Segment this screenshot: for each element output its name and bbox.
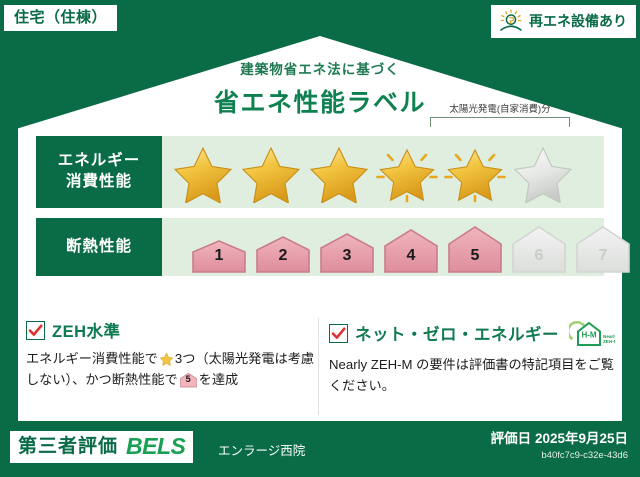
solar-bracket — [430, 117, 570, 127]
energy-label-line1: エネルギー — [58, 151, 141, 172]
svg-text:H-M: H-M — [581, 331, 596, 340]
insulation-performance-label: 断熱性能 — [36, 218, 162, 276]
energy-performance-row: エネルギー 消費性能 太陽光発電(自家消費)分 — [36, 136, 604, 208]
insulation-level-6: 6 — [508, 225, 570, 273]
building-type-label: 住宅（住棟） — [14, 9, 107, 26]
star-rating — [162, 141, 604, 203]
insulation-levels-area: 1 2 3 4 — [162, 218, 634, 276]
checkmark-icon — [329, 324, 348, 343]
renewable-energy-badge: 再エネ設備あり — [491, 5, 636, 38]
title-subtitle: 建築物省エネ法に基づく — [0, 58, 640, 78]
insulation-level-scale: 1 2 3 4 — [162, 218, 634, 276]
checkmark-icon — [26, 321, 45, 340]
renewable-badge-label: 再エネ設備あり — [529, 14, 627, 28]
insulation-level-5: 5 — [444, 225, 506, 273]
criteria-divider — [318, 318, 319, 415]
insulation-level-2: 2 — [252, 235, 314, 273]
criterion-net-zero: ネット・ゼロ・エネルギー H-M Nearly ZEH-M Nearly ZEH… — [329, 318, 618, 397]
evaluation-info: 評価日 2025年9月25日 b40fc7c9-c32e-43d6 — [491, 431, 628, 461]
bels-logo-box: 第三者評価 BELS — [10, 431, 193, 463]
builder-name: エンラージ西院 — [218, 440, 305, 459]
criterion-net-zero-body: Nearly ZEH-M の要件は評価書の特記項目をご覧ください。 — [329, 354, 618, 397]
house-level-icon-value: 5 — [180, 375, 197, 384]
star-6-empty — [510, 141, 576, 203]
criteria-section: ZEH水準 エネルギー消費性能で3つ（太陽光発電は考慮しない）、かつ断熱性能で5… — [26, 318, 618, 397]
sun-renewable-icon — [498, 9, 524, 33]
criterion-net-zero-title: ネット・ゼロ・エネルギー — [355, 321, 559, 345]
evaluation-date-line: 評価日 2025年9月25日 — [491, 431, 628, 447]
criterion-zeh-title: ZEH水準 — [52, 318, 121, 342]
solar-annotation-label: 太陽光発電(自家消費)分 — [430, 105, 570, 115]
footer-bar: 第三者評価 BELS エンラージ西院 評価日 2025年9月25日 b40fc7… — [0, 421, 640, 477]
solar-generation-annotation: 太陽光発電(自家消費)分 — [430, 105, 570, 127]
insulation-label-text: 断熱性能 — [66, 237, 132, 258]
star-icon — [159, 351, 174, 366]
criterion-zeh-text-c: を達成 — [199, 372, 239, 387]
criterion-zeh: ZEH水準 エネルギー消費性能で3つ（太陽光発電は考慮しない）、かつ断熱性能で5… — [26, 318, 315, 397]
evaluation-id: b40fc7c9-c32e-43d6 — [491, 450, 628, 461]
bels-jp-label: 第三者評価 — [18, 437, 118, 456]
svg-text:ZEH-M: ZEH-M — [603, 339, 615, 344]
insulation-level-4: 4 — [380, 228, 442, 273]
insulation-level-1: 1 — [188, 239, 250, 273]
star-2 — [238, 141, 304, 203]
star-3 — [306, 141, 372, 203]
metrics-section: エネルギー 消費性能 太陽光発電(自家消費)分 — [36, 136, 604, 286]
energy-performance-label: エネルギー 消費性能 — [36, 136, 162, 208]
criterion-net-zero-header: ネット・ゼロ・エネルギー H-M Nearly ZEH-M — [329, 318, 618, 348]
evaluation-date-value: 2025年9月25日 — [535, 431, 628, 446]
energy-performance-stars-area: 太陽光発電(自家消費)分 — [162, 136, 604, 208]
criterion-zeh-header: ZEH水準 — [26, 318, 315, 342]
star-4-solar — [374, 141, 440, 203]
criterion-zeh-text-a: エネルギー消費性能で — [26, 351, 158, 366]
star-1 — [170, 141, 236, 203]
house-level-icon: 5 — [180, 372, 197, 388]
insulation-level-7: 7 — [572, 225, 634, 273]
star-5-solar — [442, 141, 508, 203]
building-type-badge: 住宅（住棟） — [4, 5, 117, 31]
label-root: 住宅（住棟） 再エネ設備あり 建築物省エネ法に基づく 省エネ性能ラベル — [0, 0, 640, 477]
insulation-level-3: 3 — [316, 232, 378, 273]
nearly-zeh-m-logo: H-M Nearly ZEH-M — [569, 318, 615, 348]
criterion-zeh-body: エネルギー消費性能で3つ（太陽光発電は考慮しない）、かつ断熱性能で5を達成 — [26, 348, 315, 391]
bels-en-label: BELS — [126, 435, 185, 458]
energy-label-line2: 消費性能 — [66, 172, 132, 193]
insulation-performance-row: 断熱性能 1 2 — [36, 218, 604, 276]
evaluation-date-label: 評価日 — [491, 431, 532, 446]
